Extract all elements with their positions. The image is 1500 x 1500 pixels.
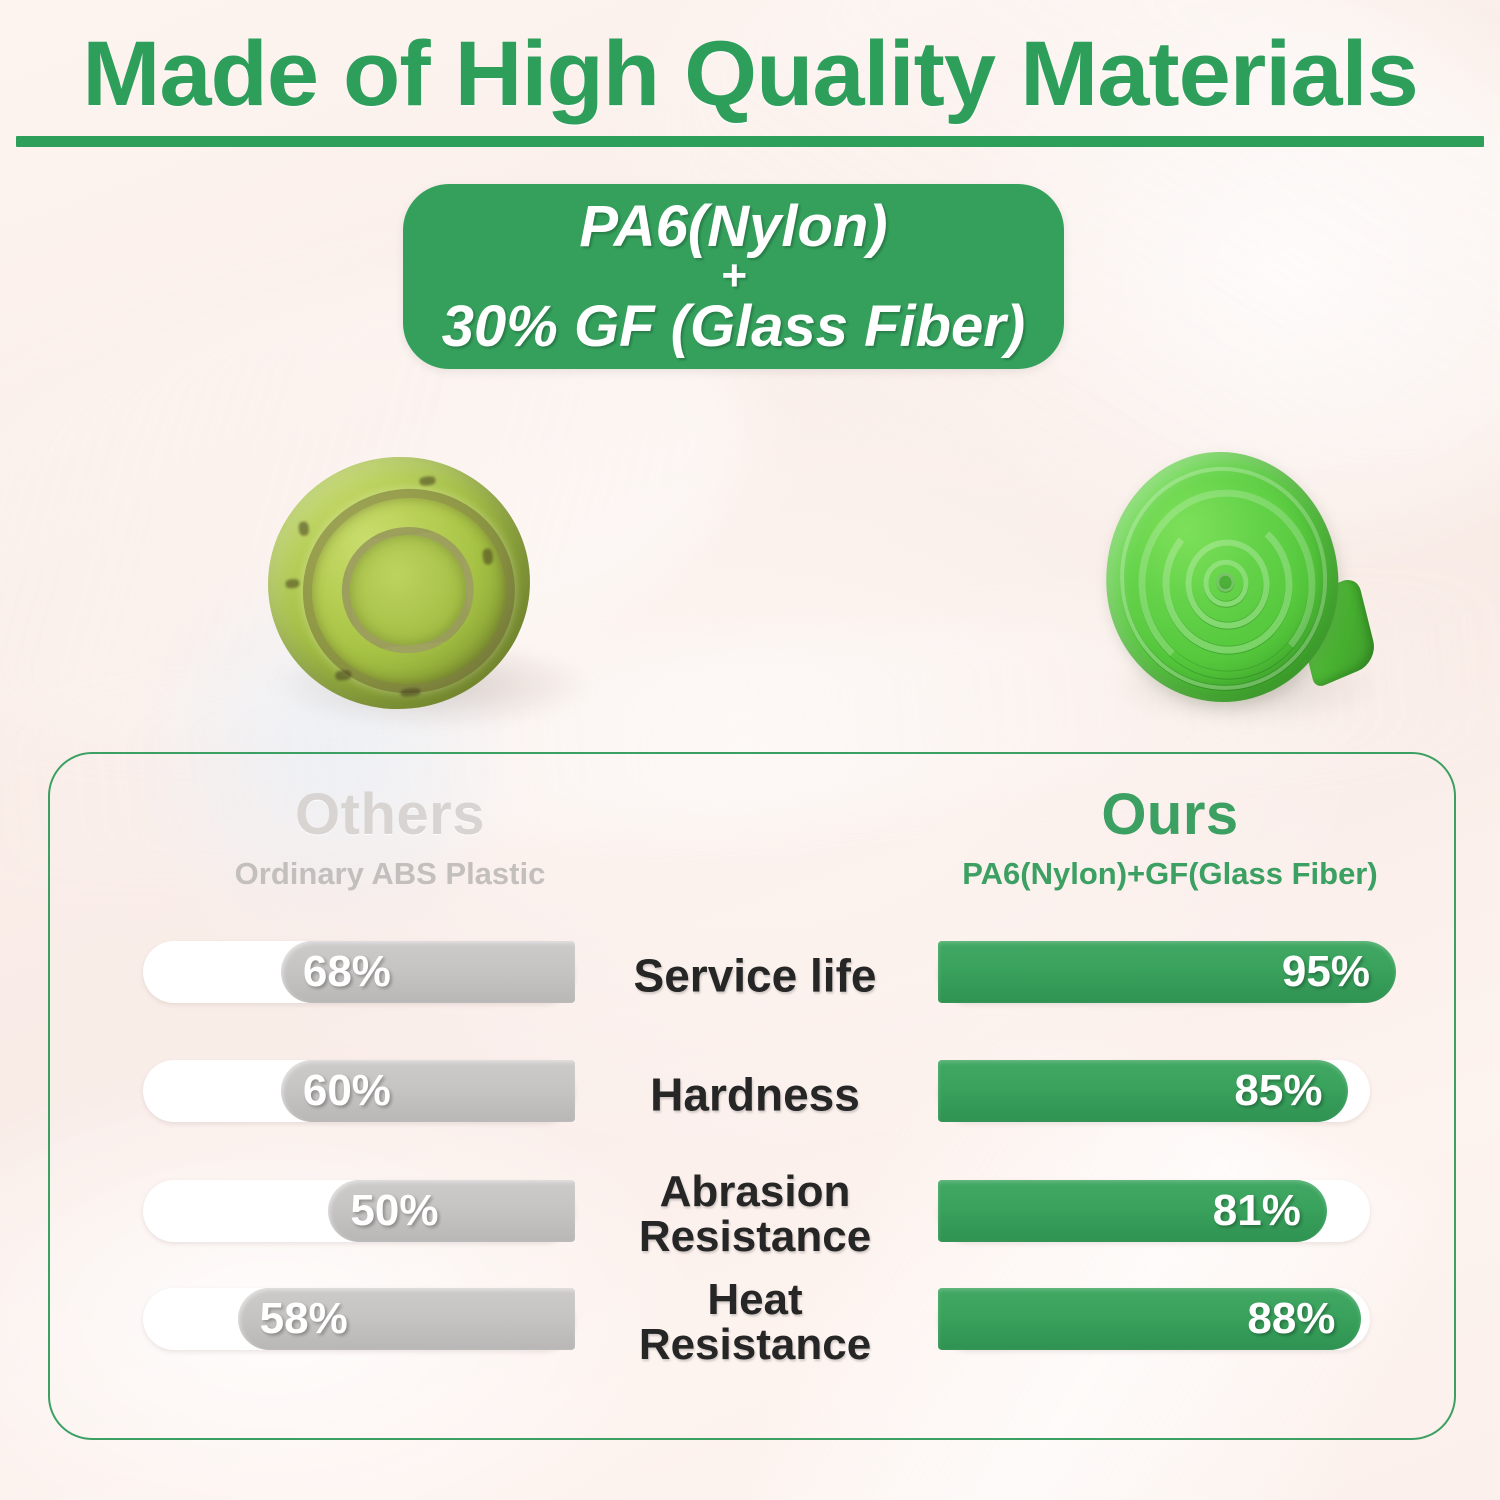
metric-label: Heat Resistance <box>580 1278 930 1368</box>
others-bar-value: 60% <box>303 1069 391 1113</box>
others-bar-track: 50% <box>143 1180 575 1242</box>
badge-plus-sign: + <box>721 254 747 299</box>
others-bar-fill: 60% <box>281 1060 575 1122</box>
metric-label-line1: Abrasion <box>580 1170 930 1215</box>
ours-bar-track: 81% <box>938 1180 1370 1242</box>
others-bar-value: 68% <box>303 950 391 994</box>
metric-label-line1: Service life <box>580 953 930 1000</box>
badge-line-1: PA6(Nylon) <box>579 197 887 256</box>
infographic-canvas: Made of High Quality Materials PA6(Nylon… <box>0 0 1500 1500</box>
others-title: Others <box>110 786 670 844</box>
others-bar-fill: 50% <box>328 1180 575 1242</box>
ours-bar-value: 88% <box>1247 1297 1335 1341</box>
ours-bar-value: 81% <box>1213 1189 1301 1233</box>
others-bar-value: 50% <box>350 1189 438 1233</box>
metric-label-line1: Heat <box>580 1278 930 1323</box>
others-subtitle: Ordinary ABS Plastic <box>110 858 670 889</box>
ours-bar-fill: 81% <box>938 1180 1327 1242</box>
column-header-others: Others Ordinary ABS Plastic <box>110 786 670 889</box>
comparison-row: 68% Service life 95% <box>0 941 1500 1011</box>
badge-line-2: 30% GF (Glass Fiber) <box>442 297 1025 356</box>
ours-subtitle: PA6(Nylon)+GF(Glass Fiber) <box>890 858 1450 889</box>
new-green-spool-cap-image <box>1106 452 1362 704</box>
others-bar-value: 58% <box>260 1297 348 1341</box>
others-bar-track: 60% <box>143 1060 575 1122</box>
others-bar-track: 68% <box>143 941 575 1003</box>
metric-label-line2: Resistance <box>580 1215 930 1260</box>
metric-label-line1: Hardness <box>580 1072 930 1119</box>
ours-bar-track: 95% <box>938 941 1370 1003</box>
ours-title: Ours <box>890 786 1450 844</box>
page-title: Made of High Quality Materials <box>0 28 1500 120</box>
title-underline <box>16 136 1484 147</box>
comparison-row: 60% Hardness 85% <box>0 1060 1500 1130</box>
ours-bar-value: 85% <box>1234 1069 1322 1113</box>
metric-label: Service life <box>580 953 930 1000</box>
ours-bar-fill: 95% <box>938 941 1396 1003</box>
comparison-row: 58% Heat Resistance 88% <box>0 1288 1500 1358</box>
ours-bar-fill: 88% <box>938 1288 1361 1350</box>
metric-label: Hardness <box>580 1072 930 1119</box>
material-badge: PA6(Nylon) + 30% GF (Glass Fiber) <box>403 184 1064 369</box>
ours-bar-value: 95% <box>1282 950 1370 994</box>
ours-bar-track: 85% <box>938 1060 1370 1122</box>
others-bar-fill: 58% <box>238 1288 575 1350</box>
column-header-ours: Ours PA6(Nylon)+GF(Glass Fiber) <box>890 786 1450 889</box>
metric-label: Abrasion Resistance <box>580 1170 930 1260</box>
ours-bar-track: 88% <box>938 1288 1370 1350</box>
others-bar-track: 58% <box>143 1288 575 1350</box>
metric-label-line2: Resistance <box>580 1323 930 1368</box>
others-bar-fill: 68% <box>281 941 575 1003</box>
cap-disc <box>1098 444 1347 710</box>
ours-bar-fill: 85% <box>938 1060 1348 1122</box>
comparison-row: 50% Abrasion Resistance 81% <box>0 1180 1500 1250</box>
